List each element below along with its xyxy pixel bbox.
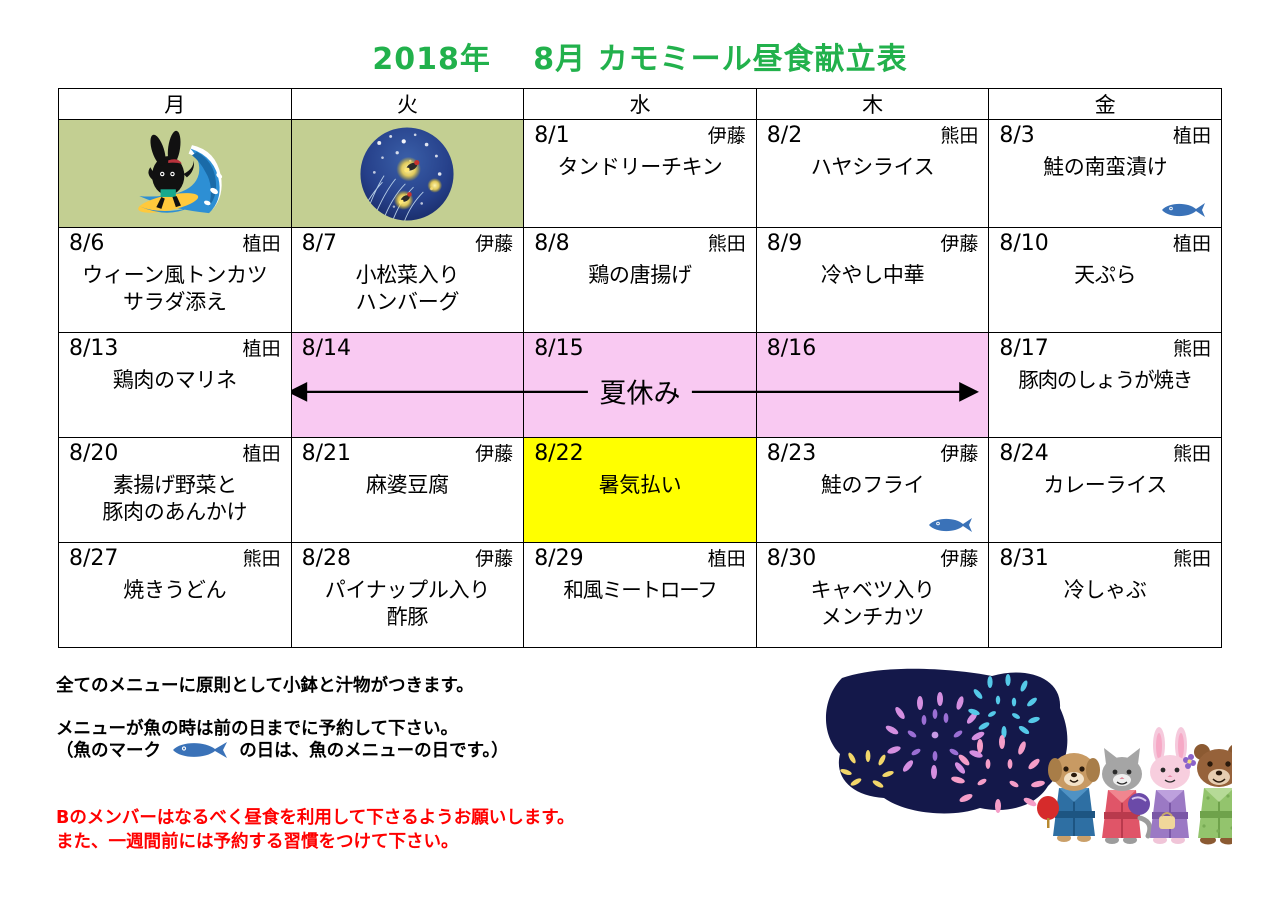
cell-date-row: 8/17熊田 <box>995 336 1215 362</box>
cell-date: 8/15 <box>534 336 583 362</box>
calendar-cell-8-2[interactable]: 8/2熊田ハヤシライス <box>756 120 989 228</box>
cell-staff-name: 伊藤 <box>940 546 978 572</box>
cell-date-row: 8/31熊田 <box>995 546 1215 572</box>
cell-date-row: 8/23伊藤 <box>763 441 983 467</box>
cell-staff-name: 植田 <box>1173 231 1211 257</box>
cell-date-row: 8/28伊藤 <box>298 546 518 572</box>
cell-menu-text: 焼きうどん <box>65 577 285 604</box>
cell-date: 8/28 <box>302 546 351 572</box>
weekday-header-mon: 月 <box>59 89 292 120</box>
cell-date-row: 8/27熊田 <box>65 546 285 572</box>
cell-date-row: 8/21伊藤 <box>298 441 518 467</box>
cell-date-row: 8/13植田 <box>65 336 285 362</box>
calendar-cell-illustration <box>291 120 524 228</box>
calendar-week-row: 8/20植田素揚げ野菜と 豚肉のあんかけ8/21伊藤麻婆豆腐8/22暑気払い8/… <box>59 438 1222 543</box>
surfing-rabbit-illustration <box>90 129 260 219</box>
menu-calendar-table: 月 火 水 木 金 <box>58 88 1222 648</box>
cell-date-row: 8/10植田 <box>995 231 1215 257</box>
cell-date-row: 8/24熊田 <box>995 441 1215 467</box>
cell-date: 8/31 <box>999 546 1048 572</box>
calendar-cell-8-6[interactable]: 8/6植田ウィーン風トンカツ サラダ添え <box>59 228 292 333</box>
calendar-cell-8-22[interactable]: 8/22暑気払い <box>524 438 757 543</box>
cell-date: 8/13 <box>69 336 118 362</box>
cell-date-row: 8/1伊藤 <box>530 123 750 149</box>
cell-staff-name: 熊田 <box>1173 441 1211 467</box>
cell-menu-text: 和風ミートローフ <box>530 577 750 604</box>
calendar-cell-8-16[interactable]: 8/16 <box>756 333 989 438</box>
cell-staff-name: 熊田 <box>708 231 746 257</box>
calendar-cell-8-7[interactable]: 8/7伊藤小松菜入り ハンバーグ <box>291 228 524 333</box>
cell-date: 8/30 <box>767 546 816 572</box>
cell-date: 8/24 <box>999 441 1048 467</box>
cell-date: 8/1 <box>534 123 569 149</box>
weekday-header-wed: 水 <box>524 89 757 120</box>
cell-date-row: 8/8熊田 <box>530 231 750 257</box>
calendar-cell-8-30[interactable]: 8/30伊藤キャベツ入り メンチカツ <box>756 543 989 648</box>
calendar-cell-8-21[interactable]: 8/21伊藤麻婆豆腐 <box>291 438 524 543</box>
calendar-cell-8-29[interactable]: 8/29植田和風ミートローフ <box>524 543 757 648</box>
note-fish-reservation-line1: メニューが魚の時は前の日までに予約して下さい。 <box>56 719 816 740</box>
cell-staff-name: 植田 <box>243 441 281 467</box>
note-fish-mark-suffix: の日は、魚のメニューの日です。） <box>239 741 509 761</box>
cell-staff-name: 植田 <box>1173 123 1211 149</box>
cell-date-row: 8/15 <box>530 336 750 362</box>
note-fish-reservation: メニューが魚の時は前の日までに予約して下さい。 （魚のマーク の日は、魚のメニュ… <box>56 719 816 762</box>
cell-date: 8/9 <box>767 231 802 257</box>
calendar-cell-8-14[interactable]: 8/14 <box>291 333 524 438</box>
cell-date: 8/14 <box>302 336 351 362</box>
cell-menu-text: 鮭の南蛮漬け <box>995 154 1215 181</box>
cell-staff-name: 伊藤 <box>708 123 746 149</box>
calendar-week-row: 8/1伊藤タンドリーチキン8/2熊田ハヤシライス8/3植田鮭の南蛮漬け <box>59 120 1222 228</box>
cell-staff-name: 植田 <box>243 336 281 362</box>
calendar-cell-8-17[interactable]: 8/17熊田豚肉のしょうが焼き <box>989 333 1222 438</box>
cell-date-row: 8/3植田 <box>995 123 1215 149</box>
note-side-dishes-text: 全てのメニューに原則として小鉢と汁物がつきます。 <box>56 676 816 697</box>
calendar-week-row: 8/6植田ウィーン風トンカツ サラダ添え8/7伊藤小松菜入り ハンバーグ8/8熊… <box>59 228 1222 333</box>
cell-date-row: 8/20植田 <box>65 441 285 467</box>
fireflies-night <box>292 120 524 227</box>
cell-date: 8/8 <box>534 231 569 257</box>
cell-staff-name: 伊藤 <box>940 231 978 257</box>
cell-date: 8/23 <box>767 441 816 467</box>
cell-date-row: 8/29植田 <box>530 546 750 572</box>
fireflies-night-illustration <box>358 125 456 223</box>
cell-menu-text: 小松菜入り ハンバーグ <box>298 262 518 316</box>
cell-menu-text: カレーライス <box>995 472 1215 499</box>
cell-menu-text: パイナップル入り 酢豚 <box>298 577 518 631</box>
cell-date-row: 8/2熊田 <box>763 123 983 149</box>
calendar-cell-8-23[interactable]: 8/23伊藤鮭のフライ <box>756 438 989 543</box>
cell-menu-text: 冷しゃぶ <box>995 577 1215 604</box>
cell-date: 8/20 <box>69 441 118 467</box>
cell-date: 8/22 <box>534 441 583 467</box>
cell-date-row: 8/7伊藤 <box>298 231 518 257</box>
cell-menu-text: ハヤシライス <box>763 154 983 181</box>
footer-notes-important: Bのメンバーはなるべく昼食を利用して下さるようお願いします。 また、一週間前には… <box>56 806 856 854</box>
weekday-header-fri: 金 <box>989 89 1222 120</box>
calendar-cell-8-27[interactable]: 8/27熊田焼きうどん <box>59 543 292 648</box>
cell-menu-text: 冷やし中華 <box>763 262 983 289</box>
note-member-request-line1: Bのメンバーはなるべく昼食を利用して下さるようお願いします。 <box>56 806 856 830</box>
cell-staff-name: 植田 <box>708 546 746 572</box>
footer-notes: 全てのメニューに原則として小鉢と汁物がつきます。 メニューが魚の時は前の日までに… <box>56 676 816 784</box>
cell-staff-name: 伊藤 <box>940 441 978 467</box>
calendar-cell-8-10[interactable]: 8/10植田天ぷら <box>989 228 1222 333</box>
note-fish-mark-prefix: （魚のマーク <box>56 741 161 761</box>
cell-staff-name: 熊田 <box>940 123 978 149</box>
weekday-header-tue: 火 <box>291 89 524 120</box>
calendar-cell-8-1[interactable]: 8/1伊藤タンドリーチキン <box>524 120 757 228</box>
cell-date: 8/21 <box>302 441 351 467</box>
cell-date: 8/27 <box>69 546 118 572</box>
weekday-header-row: 月 火 水 木 金 <box>59 89 1222 120</box>
cell-staff-name: 熊田 <box>1173 336 1211 362</box>
cell-staff-name: 伊藤 <box>475 546 513 572</box>
cell-menu-text: 鶏の唐揚げ <box>530 262 750 289</box>
cell-date-row: 8/22 <box>530 441 750 467</box>
cell-date-row: 8/9伊藤 <box>763 231 983 257</box>
note-fish-reservation-line2: （魚のマーク の日は、魚のメニューの日です。） <box>56 740 816 762</box>
cell-staff-name: 熊田 <box>243 546 281 572</box>
cell-menu-text: 豚肉のしょうが焼き <box>995 367 1215 394</box>
calendar-cell-8-3[interactable]: 8/3植田鮭の南蛮漬け <box>989 120 1222 228</box>
cell-menu-text: 鶏肉のマリネ <box>65 367 285 394</box>
calendar-cell-8-24[interactable]: 8/24熊田カレーライス <box>989 438 1222 543</box>
fish-icon <box>171 740 229 760</box>
cell-staff-name: 伊藤 <box>475 441 513 467</box>
cell-menu-text: タンドリーチキン <box>530 154 750 181</box>
character-cat <box>1102 748 1150 844</box>
calendar-week-row: 8/13植田鶏肉のマリネ8/148/158/168/17熊田豚肉のしょうが焼き <box>59 333 1222 438</box>
cell-menu-text: 麻婆豆腐 <box>298 472 518 499</box>
calendar-cell-8-8[interactable]: 8/8熊田鶏の唐揚げ <box>524 228 757 333</box>
cell-menu-text: 鮭のフライ <box>763 472 983 499</box>
character-rabbit <box>1150 727 1196 844</box>
fish-icon <box>928 516 974 534</box>
cell-date: 8/6 <box>69 231 104 257</box>
cell-staff-name: 熊田 <box>1173 546 1211 572</box>
calendar-cell-8-13[interactable]: 8/13植田鶏肉のマリネ <box>59 333 292 438</box>
note-member-request-line2: また、一週間前には予約する習慣をつけて下さい。 <box>56 830 856 854</box>
fireworks-festival-illustration <box>812 668 1232 868</box>
cell-menu-text: キャベツ入り メンチカツ <box>763 577 983 631</box>
cell-date: 8/10 <box>999 231 1048 257</box>
note-side-dishes: 全てのメニューに原則として小鉢と汁物がつきます。 <box>56 676 816 697</box>
calendar-cell-8-20[interactable]: 8/20植田素揚げ野菜と 豚肉のあんかけ <box>59 438 292 543</box>
calendar-body: 8/1伊藤タンドリーチキン8/2熊田ハヤシライス8/3植田鮭の南蛮漬け8/6植田… <box>59 120 1222 648</box>
weekday-header-thu: 木 <box>756 89 989 120</box>
surfing-rabbit <box>59 120 291 227</box>
calendar-cell-illustration <box>59 120 292 228</box>
calendar-week-row: 8/27熊田焼きうどん8/28伊藤パイナップル入り 酢豚8/29植田和風ミートロ… <box>59 543 1222 648</box>
cell-date: 8/7 <box>302 231 337 257</box>
cell-date: 8/16 <box>767 336 816 362</box>
cell-menu-text: 天ぷら <box>995 262 1215 289</box>
cell-date: 8/17 <box>999 336 1048 362</box>
cell-date-row: 8/6植田 <box>65 231 285 257</box>
cell-date-row: 8/16 <box>763 336 983 362</box>
cell-menu-text: 素揚げ野菜と 豚肉のあんかけ <box>65 472 285 526</box>
cell-date-row: 8/30伊藤 <box>763 546 983 572</box>
cell-menu-text: 暑気払い <box>530 472 750 499</box>
character-bear <box>1194 744 1232 845</box>
cell-date-row: 8/14 <box>298 336 518 362</box>
calendar-cell-8-28[interactable]: 8/28伊藤パイナップル入り 酢豚 <box>291 543 524 648</box>
calendar-cell-8-9[interactable]: 8/9伊藤冷やし中華 <box>756 228 989 333</box>
cell-staff-name: 伊藤 <box>475 231 513 257</box>
cell-date: 8/3 <box>999 123 1034 149</box>
cell-menu-text: ウィーン風トンカツ サラダ添え <box>65 262 285 316</box>
page-title: 2018年 8月 カモミール昼食献立表 <box>0 34 1280 78</box>
calendar-cell-8-15[interactable]: 8/15 <box>524 333 757 438</box>
cell-date: 8/29 <box>534 546 583 572</box>
cell-staff-name: 植田 <box>243 231 281 257</box>
calendar-cell-8-31[interactable]: 8/31熊田冷しゃぶ <box>989 543 1222 648</box>
fish-icon <box>1161 201 1207 219</box>
cell-date: 8/2 <box>767 123 802 149</box>
